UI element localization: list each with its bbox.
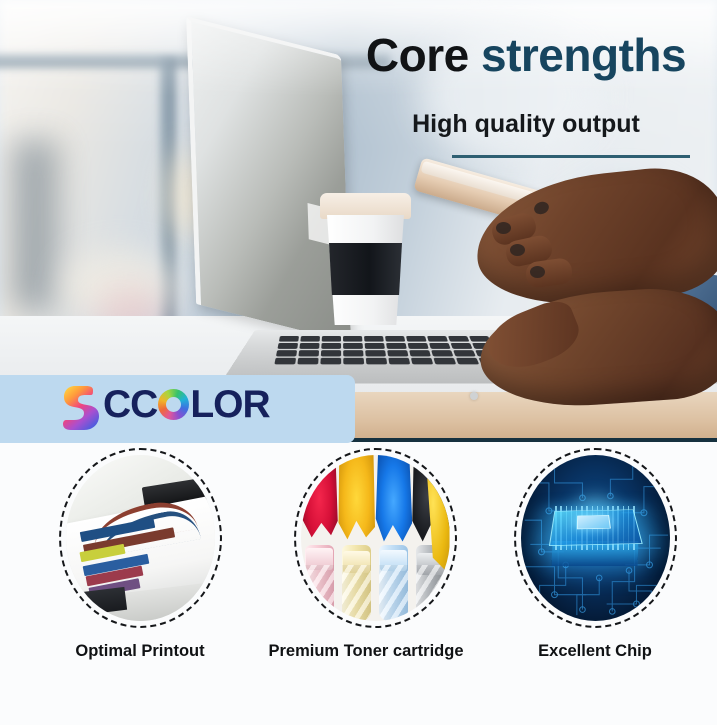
laptop-indicator-light xyxy=(470,392,478,400)
printer-chart-photo xyxy=(66,455,215,621)
toner-column-yellow xyxy=(338,455,375,621)
feature-image-frame xyxy=(514,448,677,628)
toner-bottle-texture xyxy=(342,565,371,621)
toner-bottle-texture xyxy=(305,565,334,621)
toner-powder-cyan xyxy=(375,455,412,558)
feature-item-optimal-printout: Optimal Printout xyxy=(42,448,238,661)
feature-label: Optimal Printout xyxy=(42,642,238,661)
page-title-word-strengths: strengths xyxy=(481,29,686,81)
feature-label: Premium Toner cartridge xyxy=(259,642,473,661)
logo-rainbow-ring-icon xyxy=(158,389,189,420)
toner-column-cyan xyxy=(375,455,412,621)
brand-logo-banner: CC LOR SCCOLOR xyxy=(0,375,355,443)
background-blur-shape xyxy=(12,140,58,310)
feature-item-premium-toner-cartridge: Premium Toner cartridge xyxy=(277,448,473,661)
toner-column-magenta xyxy=(301,455,338,621)
logo-text-cc: CC xyxy=(103,385,157,424)
cmyk-toner-photo xyxy=(301,455,450,621)
feature-label: Excellent Chip xyxy=(497,642,693,661)
coffee-cup xyxy=(323,193,408,325)
logo-s-mark-icon xyxy=(62,385,102,431)
toner-bottle-texture xyxy=(379,565,408,621)
logo-text-lor: LOR xyxy=(190,385,269,424)
brand-logo: CC LOR SCCOLOR xyxy=(62,385,270,433)
subtitle-underline xyxy=(452,155,690,158)
page-title: Core strengths xyxy=(352,32,700,78)
fingernail xyxy=(530,266,545,278)
feature-row: Optimal Printout xyxy=(0,448,717,725)
toner-powder-yellow xyxy=(338,455,375,558)
page-title-word-core: Core xyxy=(366,29,469,81)
toner-bottle-texture xyxy=(416,565,445,621)
fingernail xyxy=(496,222,511,234)
page-subtitle: High quality output xyxy=(352,110,700,139)
feature-image-frame xyxy=(294,448,457,628)
coffee-cup-sleeve xyxy=(329,243,402,295)
chip-die xyxy=(577,515,611,529)
toner-powder-magenta xyxy=(301,455,338,558)
feature-item-excellent-chip: Excellent Chip xyxy=(497,448,693,661)
fingernail xyxy=(510,244,525,256)
promo-banner: Core strengths High quality output xyxy=(0,0,717,725)
microchip-photo xyxy=(521,455,670,621)
feature-image-frame xyxy=(59,448,222,628)
logo-wordmark: CC LOR xyxy=(103,385,270,424)
